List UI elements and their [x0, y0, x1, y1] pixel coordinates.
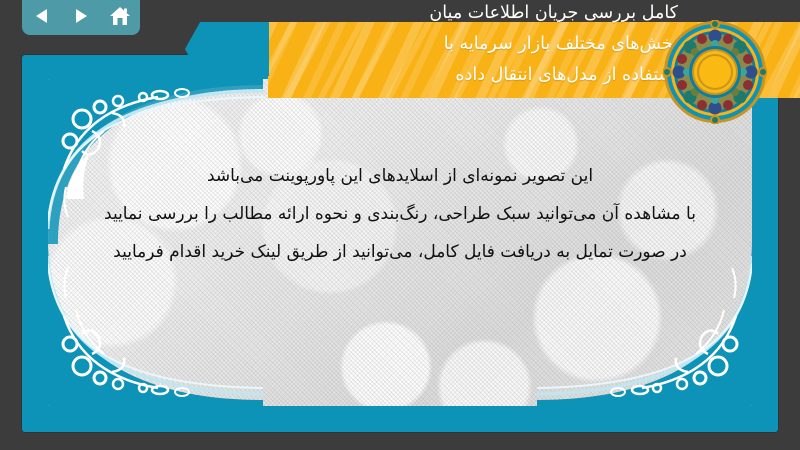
ornamental-medallion-icon — [663, 20, 767, 124]
banner-arrow-connector — [185, 22, 269, 76]
body-line-1: این تصویر نمونه‌ای از اسلایدهای این پاور… — [48, 157, 752, 195]
slide-body-text: این تصویر نمونه‌ای از اسلایدهای این پاور… — [48, 157, 752, 271]
body-line-3: در صورت تمایل به دریافت فایل کامل، می‌تو… — [48, 233, 752, 271]
back-button[interactable] — [28, 3, 56, 29]
body-line-2: با مشاهده آن می‌توانید سبک طراحی، رنگ‌بن… — [48, 195, 752, 233]
forward-arrow-icon — [71, 7, 91, 25]
content-panel-surface: این تصویر نمونه‌ای از اسلایدهای این پاور… — [48, 79, 752, 406]
navigation-bar — [22, 0, 140, 35]
back-arrow-icon — [32, 7, 52, 25]
slide-canvas: کامل بررسی جریان اطلاعات میان بخش‌های مخ… — [0, 0, 800, 450]
forward-button[interactable] — [67, 3, 95, 29]
home-icon — [109, 6, 131, 26]
home-button[interactable] — [106, 3, 134, 29]
